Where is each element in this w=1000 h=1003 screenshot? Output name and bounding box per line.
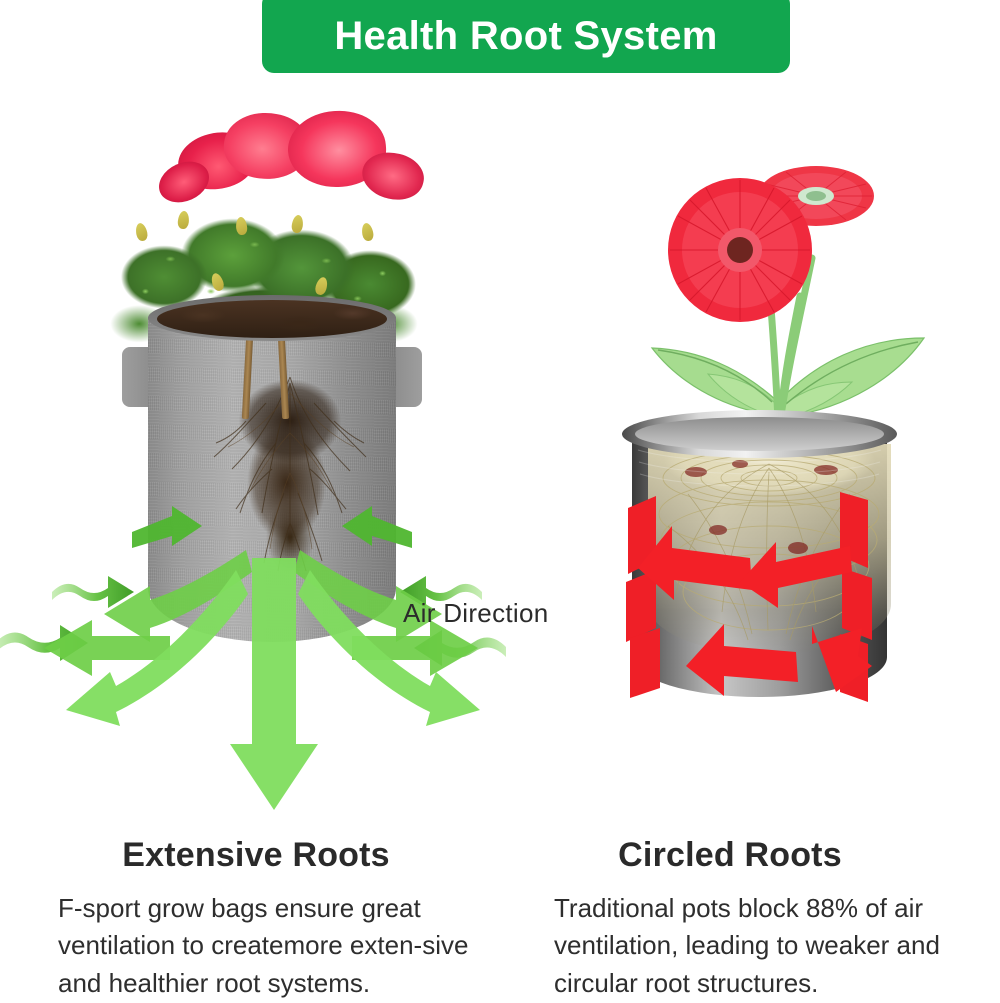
product-infographic: Health Root System bbox=[0, 0, 1000, 1000]
title-banner: Health Root System bbox=[262, 0, 790, 73]
air-direction-label: Air Direction bbox=[403, 598, 549, 629]
caption-right-body: Traditional pots block 88% of air ventil… bbox=[520, 890, 1000, 1003]
caption-right-title: Circled Roots bbox=[520, 838, 1000, 874]
red-arrow-tab-right-mid bbox=[842, 568, 872, 640]
red-arrow-band-lower-left bbox=[686, 624, 798, 696]
gerbera-svg bbox=[600, 100, 960, 430]
page-title: Health Root System bbox=[334, 16, 717, 56]
gerbera-flower-front bbox=[668, 178, 812, 322]
caption-left-title: Extensive Roots bbox=[0, 838, 520, 874]
air-flow-arrows-red bbox=[600, 400, 920, 730]
red-arrow-tab-left-lower bbox=[630, 628, 660, 698]
caption-right: Circled Roots Traditional pots block 88%… bbox=[520, 838, 1000, 1003]
inward-wave-arrow-upper-left bbox=[52, 576, 134, 608]
caption-left-body: F-sport grow bags ensure great ventilati… bbox=[0, 890, 520, 1003]
gerbera-daisy-icon bbox=[600, 100, 960, 430]
left-illustration-grow-bag bbox=[0, 80, 520, 840]
inward-arrow-stub-left bbox=[132, 506, 202, 548]
inward-arrow-stub-right bbox=[342, 506, 412, 548]
caption-left: Extensive Roots F-sport grow bags ensure… bbox=[0, 838, 520, 1003]
red-arrow-band-upper-right bbox=[740, 542, 852, 608]
air-flow-arrows-green bbox=[0, 80, 520, 840]
plastic-pot-icon bbox=[622, 410, 897, 715]
right-illustration-plastic-pot bbox=[560, 80, 1000, 840]
